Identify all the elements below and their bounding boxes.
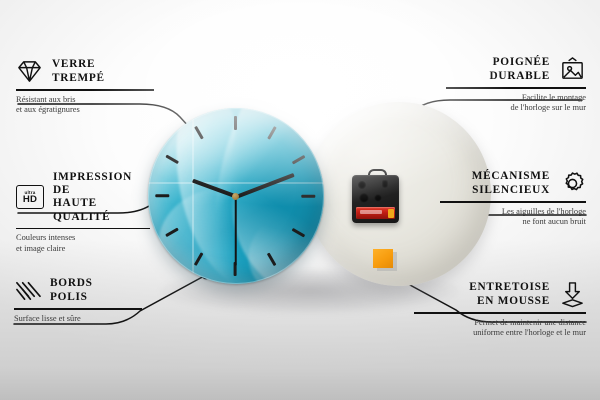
feature-poignee-durable: POIGNÉE DURABLE Facilite le montage de l… [446, 56, 586, 113]
feature-description: Surface lisse et sûre [14, 314, 142, 324]
second-hand [235, 196, 237, 266]
feature-description: Permet de maintenir une distance uniform… [414, 318, 586, 339]
feature-title: VERRE TREMPÉ [52, 58, 105, 84]
feature-divider [14, 308, 142, 310]
battery-terminal [388, 209, 394, 218]
hour-marker-9 [155, 195, 169, 198]
feature-title: BORDS POLIS [50, 277, 93, 303]
feature-title: MÉCANISME SILENCIEUX [472, 170, 550, 196]
hour-marker-12 [234, 116, 237, 130]
feature-title: IMPRESSION DE HAUTE QUALITÉ [53, 171, 150, 224]
feature-divider [446, 87, 586, 89]
feature-divider [16, 89, 154, 91]
feature-bords-polis: BORDS POLIS Surface lisse et sûre [14, 277, 142, 324]
feature-mecanisme-silencieux: MÉCANISME SILENCIEUX Les aiguilles de l'… [440, 170, 586, 227]
feature-description: Les aiguilles de l'horloge ne font aucun… [440, 207, 586, 228]
foam-spacer-sample [373, 249, 393, 268]
infographic-canvas: VERRE TREMPÉ Résistant aux bris et aux é… [0, 0, 600, 400]
mechanism-gear-a [359, 193, 369, 203]
feature-divider [16, 228, 150, 230]
feature-title: ENTRETOISE EN MOUSSE [469, 281, 550, 307]
clock-hand-cap [232, 193, 239, 200]
polished-edges-icon [14, 277, 41, 304]
feature-divider [440, 201, 586, 203]
diamond-icon [16, 58, 43, 85]
picture-hanger-icon [559, 56, 586, 83]
feature-impression-haute-qualite: ultra HD IMPRESSION DE HAUTE QUALITÉ Cou… [16, 171, 150, 254]
mechanism-screw-a [358, 181, 366, 189]
hour-marker-3 [301, 195, 315, 198]
feature-description: Résistant aux bris et aux égratignures [16, 95, 154, 116]
feature-title: POIGNÉE DURABLE [490, 56, 551, 82]
feature-verre-trempe: VERRE TREMPÉ Résistant aux bris et aux é… [16, 58, 154, 115]
foam-spacer-icon [559, 281, 586, 308]
mechanism-screw-b [382, 180, 388, 188]
feature-entretoise-en-mousse: ENTRETOISE EN MOUSSE Permet de maintenir… [414, 281, 586, 338]
mechanism-gear-b [374, 194, 382, 202]
battery-label [360, 210, 382, 214]
ultra-hd-icon: ultra HD [16, 185, 44, 209]
feature-description: Facilite le montage de l'horloge sur le … [446, 93, 586, 114]
mechanism-battery [356, 207, 395, 219]
feature-divider [414, 312, 586, 314]
clock-mechanism [352, 175, 399, 223]
ultra-hd-icon-main-label: HD [23, 195, 37, 205]
feature-description: Couleurs intenses et image claire [16, 233, 150, 254]
gear-icon [559, 170, 586, 197]
